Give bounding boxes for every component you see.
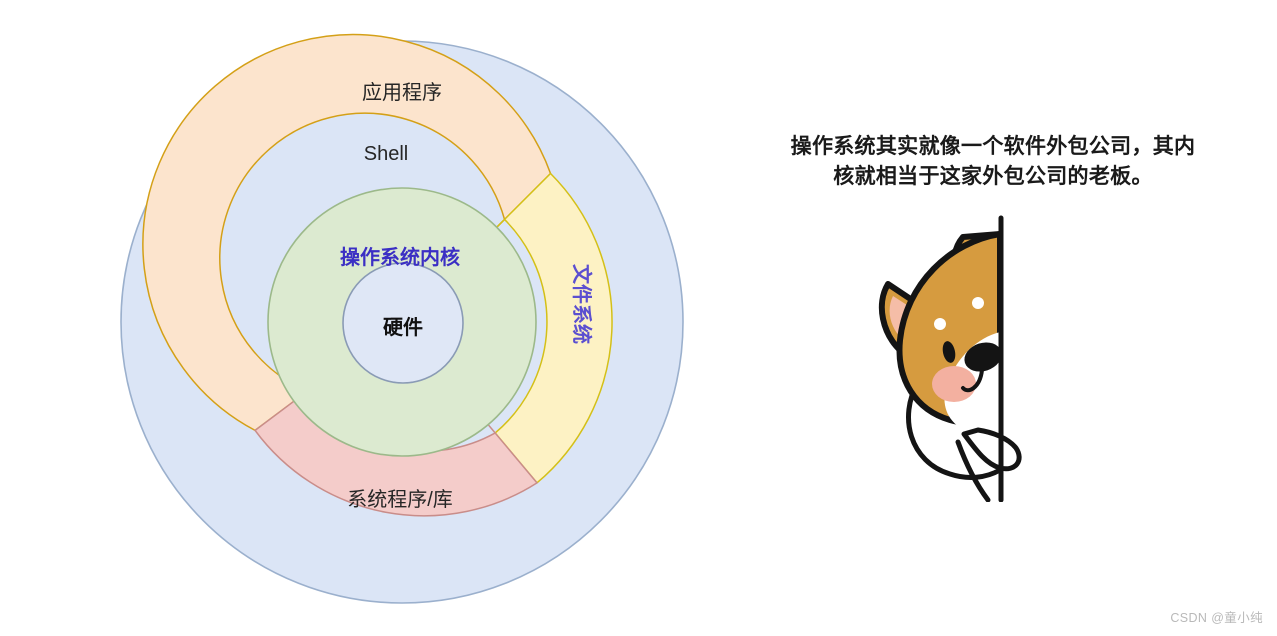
explanation-panel: 操作系统其实就像一个软件外包公司，其内 核就相当于这家外包公司的老板。	[710, 0, 1277, 636]
label-hardware: 硬件	[383, 315, 423, 339]
diagram-canvas: 应用程序 Shell 文件系统 系统程序/库 操作系统内核 硬件	[0, 0, 710, 636]
label-application: 应用程序	[362, 81, 442, 104]
os-layers-diagram: 应用程序 Shell 文件系统 系统程序/库 操作系统内核 硬件	[0, 0, 710, 636]
caption-line-2: 核就相当于这家外包公司的老板。	[728, 162, 1258, 192]
csdn-watermark: CSDN @童小纯	[1170, 607, 1263, 626]
mascot-cheek	[932, 366, 976, 402]
mascot-sparkle-dot-1	[972, 297, 984, 309]
label-file-system: 文件系统	[570, 264, 594, 344]
label-system-programs: 系统程序/库	[347, 488, 453, 511]
mascot-sparkle-dot-2	[934, 318, 946, 330]
caption-text: 操作系统其实就像一个软件外包公司，其内 核就相当于这家外包公司的老板。	[728, 132, 1258, 193]
label-shell: Shell	[364, 143, 408, 165]
shiba-inu-icon	[858, 212, 1128, 502]
caption-line-1: 操作系统其实就像一个软件外包公司，其内	[728, 132, 1258, 162]
shiba-inu-mascot	[858, 212, 1128, 502]
label-os-kernel: 操作系统内核	[340, 245, 460, 269]
